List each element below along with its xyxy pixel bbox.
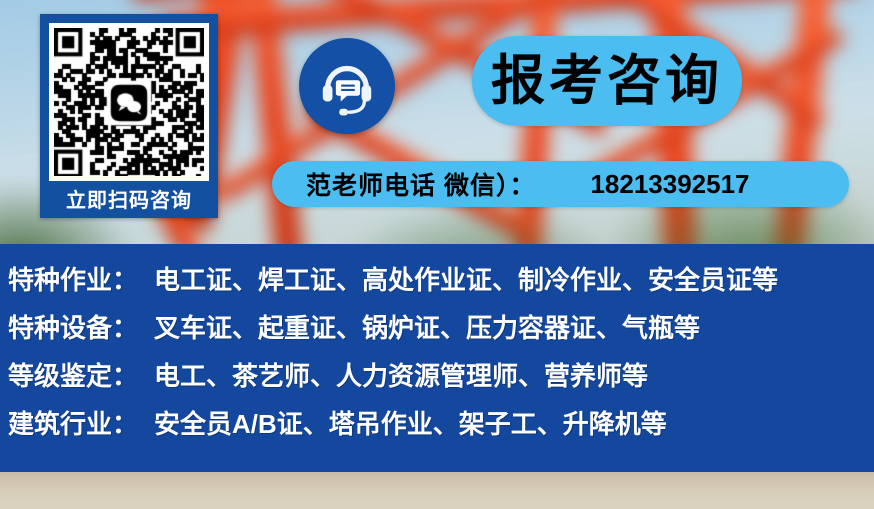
headset-support-icon [299,38,395,134]
contact-label: 范老师电话 微信）： [306,166,535,202]
course-items-list: 电工、茶艺师、人力资源管理师、营养师等 [154,356,648,393]
contact-phone-pill[interactable]: 范老师电话 微信）： 18213392517 [272,161,849,207]
course-category-label: 等级鉴定： [8,356,138,393]
headline-text: 报考咨询 [491,54,723,108]
course-category-label: 建筑行业： [8,404,138,441]
course-category-label: 特种设备： [8,308,138,345]
course-row: 特种设备： 叉车证、起重证、锅炉证、压力容器证、气瓶等 [0,308,874,356]
course-items-list: 安全员A/B证、塔吊作业、架子工、升降机等 [154,404,667,441]
course-category-label: 特种作业： [8,260,138,297]
qr-code-label: 立即扫码咨询 [43,191,215,211]
course-items-list: 叉车证、起重证、锅炉证、压力容器证、气瓶等 [154,308,700,345]
advertisement-banner: 立即扫码咨询 报考咨询 范老师电话 微信）： 18213392517 特 [0,0,874,509]
course-row: 等级鉴定： 电工、茶艺师、人力资源管理师、营养师等 [0,356,874,404]
headline-pill[interactable]: 报考咨询 [472,36,742,126]
contact-phone-number[interactable]: 18213392517 [590,169,749,200]
qr-code-card[interactable]: 立即扫码咨询 [40,14,218,218]
course-items-list: 电工证、焊工证、高处作业证、制冷作业、安全员证等 [154,260,778,297]
course-row: 建筑行业： 安全员A/B证、塔吊作业、架子工、升降机等 [0,404,874,452]
course-row: 特种作业： 电工证、焊工证、高处作业证、制冷作业、安全员证等 [0,260,874,308]
course-categories-panel: 特种作业： 电工证、焊工证、高处作业证、制冷作业、安全员证等 特种设备： 叉车证… [0,244,874,472]
qr-code-canvas [54,28,204,176]
qr-code-image[interactable] [49,23,209,181]
